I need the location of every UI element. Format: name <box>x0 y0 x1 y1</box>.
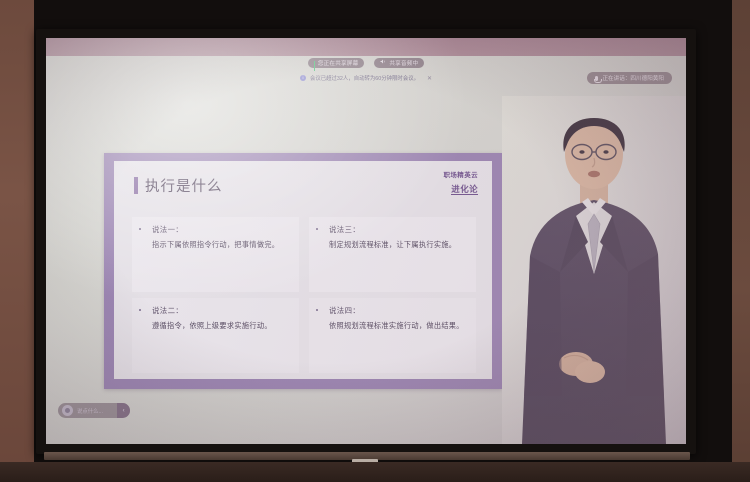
slide-card: 说法一： 指示下属依照指令行动，把事情做完。 <box>132 217 299 292</box>
presentation-slide: 执行是什么 职场精英云 进化论 说法一： 指示下属依照指令行动，把事情做完。 <box>104 153 502 389</box>
chat-input[interactable]: 说点什么... <box>77 407 117 415</box>
speaker-icon <box>380 59 386 67</box>
presenter-figure <box>502 96 686 444</box>
presenter-video <box>502 96 686 444</box>
share-status-bar: 您正在共享屏幕 共享音频中 <box>46 58 686 68</box>
card-body: 制定规划流程标准，让下属执行实施。 <box>329 239 468 250</box>
close-icon[interactable]: ✕ <box>427 75 432 82</box>
logo-line-2: 进化论 <box>451 185 478 195</box>
slide-card-grid: 说法一： 指示下属依照指令行动，把事情做完。 说法三： 制定规划流程标准，让下属… <box>132 217 476 373</box>
avatar <box>62 405 73 416</box>
brand-logo: 职场精英云 进化论 <box>444 173 479 197</box>
card-heading: 说法二： <box>152 305 291 316</box>
slide-header: 执行是什么 职场精英云 进化论 <box>114 161 492 211</box>
slide-content: 执行是什么 职场精英云 进化论 说法一： 指示下属依照指令行动，把事情做完。 <box>114 161 492 379</box>
chat-input-bar[interactable]: 说点什么... ‹ <box>58 403 130 418</box>
signal-bars-icon <box>314 61 315 66</box>
active-speaker-label: 正在讲话：四川德阳黄阳 <box>602 74 664 82</box>
bullet-icon <box>139 309 141 311</box>
notice-text: 会议已超过32人，自动转为60分钟限时会议。 <box>310 74 419 82</box>
wall-right <box>732 0 750 482</box>
microphone-icon <box>595 76 598 81</box>
chevron-left-icon[interactable]: ‹ <box>117 403 130 418</box>
screen-share-pill[interactable]: 您正在共享屏幕 <box>308 58 365 68</box>
projector-room-photo: 您正在共享屏幕 共享音频中 i 会议已超过32人，自动转为60分钟限时会议。 ✕… <box>0 0 750 482</box>
card-body: 指示下属依照指令行动，把事情做完。 <box>152 239 291 250</box>
bullet-icon <box>316 228 318 230</box>
bullet-icon <box>139 228 141 230</box>
card-body: 依照规划流程标准实施行动，做出结果。 <box>329 320 468 331</box>
card-body: 遵循指令，依照上级要求实施行动。 <box>152 320 291 331</box>
meeting-top-band <box>46 38 686 56</box>
slide-card: 说法四： 依照规划流程标准实施行动，做出结果。 <box>309 298 476 373</box>
slide-card: 说法三： 制定规划流程标准，让下属执行实施。 <box>309 217 476 292</box>
bullet-icon <box>316 309 318 311</box>
card-heading: 说法三： <box>329 224 468 235</box>
screen-share-label: 您正在共享屏幕 <box>318 59 359 67</box>
card-heading: 说法一： <box>152 224 291 235</box>
card-heading: 说法四： <box>329 305 468 316</box>
projected-meeting-screen: 您正在共享屏幕 共享音频中 i 会议已超过32人，自动转为60分钟限时会议。 ✕… <box>46 38 686 444</box>
audio-share-label: 共享音频中 <box>389 59 418 67</box>
wall-left <box>0 0 34 482</box>
slide-title-row: 执行是什么 <box>134 175 223 196</box>
floor-shadow <box>0 462 750 482</box>
active-speaker-chip: 正在讲话：四川德阳黄阳 <box>587 72 672 84</box>
title-accent-bar <box>134 177 138 194</box>
logo-line-1: 职场精英云 <box>444 173 479 180</box>
audio-share-pill[interactable]: 共享音频中 <box>374 58 424 68</box>
slide-card: 说法二： 遵循指令，依照上级要求实施行动。 <box>132 298 299 373</box>
page-title: 执行是什么 <box>145 175 223 196</box>
info-icon: i <box>300 75 306 81</box>
